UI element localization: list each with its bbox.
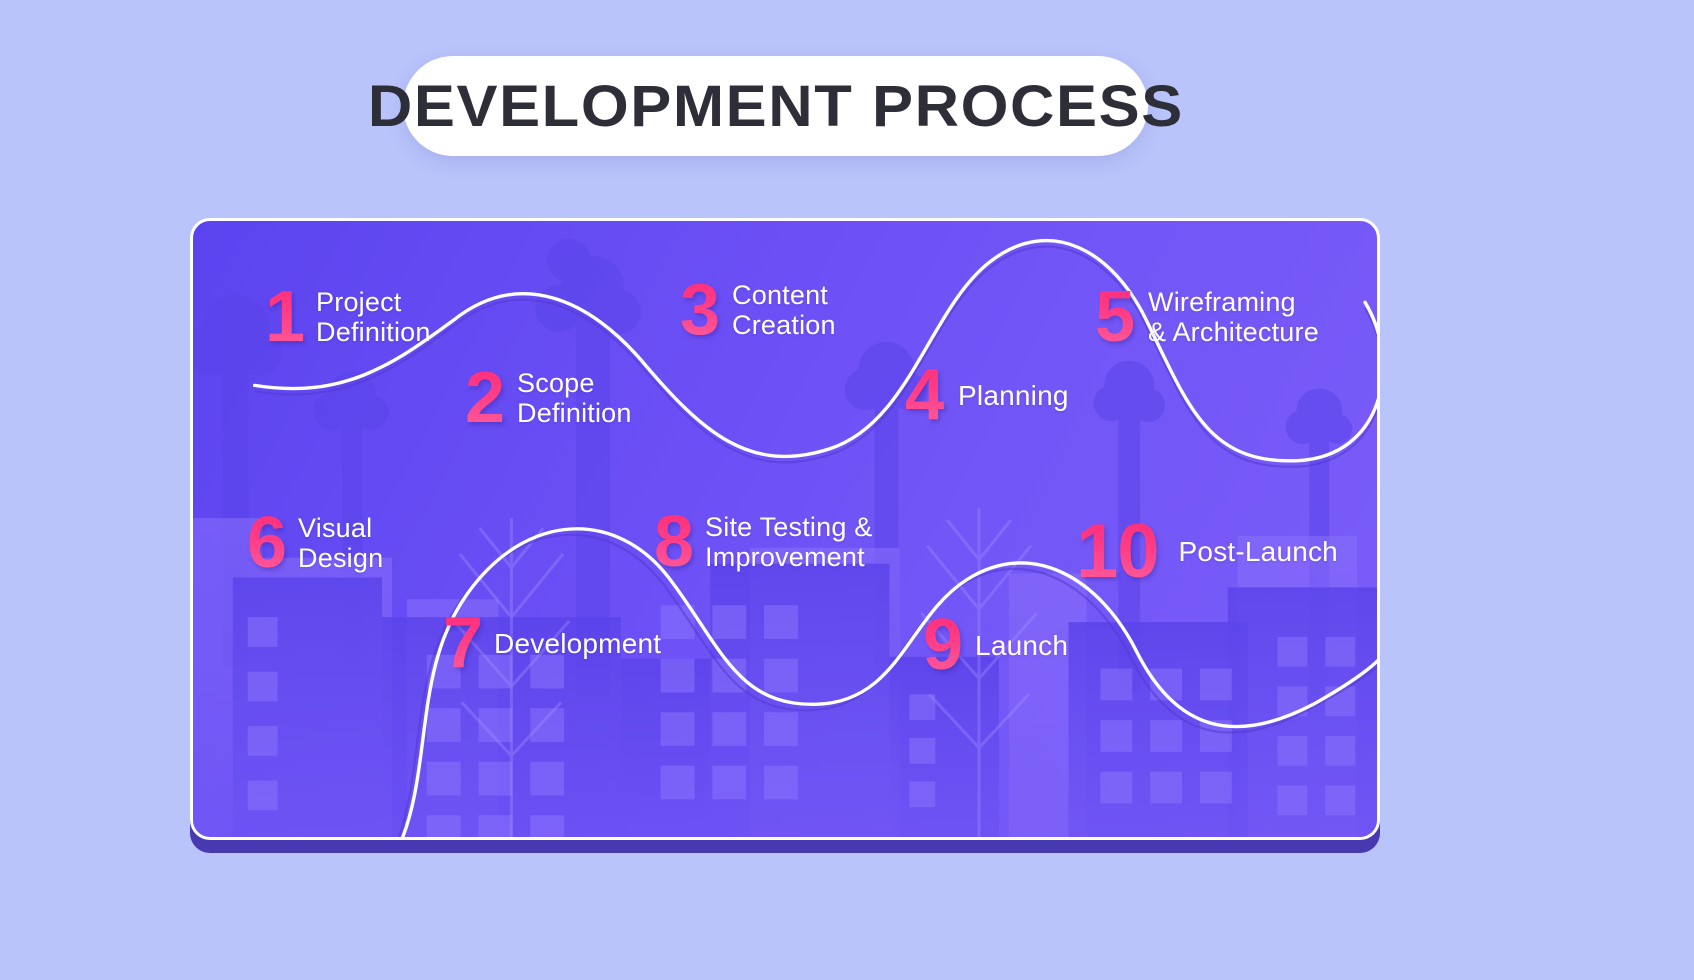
step-label-line2: Design [298, 543, 383, 573]
step-label-10: Post-Launch [1179, 536, 1338, 567]
step-number-2: 2 [465, 364, 504, 432]
infographic-card: 1 Project Definition 2 Scope Definition … [190, 218, 1380, 840]
step-item-9[interactable]: 9 Launch [923, 611, 1068, 679]
step-label-7: Development [494, 628, 661, 659]
step-item-7[interactable]: 7 Development [443, 609, 661, 677]
step-item-6[interactable]: 6 Visual Design [247, 509, 383, 577]
step-label-line1: Launch [975, 630, 1068, 661]
step-number-8: 8 [654, 508, 693, 576]
step-label-line1: Scope [517, 368, 632, 398]
step-number-10: 10 [1076, 516, 1159, 588]
step-label-line1: Post-Launch [1179, 536, 1338, 567]
step-item-1[interactable]: 1 Project Definition [265, 283, 431, 351]
step-number-1: 1 [265, 283, 304, 351]
step-label-9: Launch [975, 630, 1068, 661]
step-number-9: 9 [923, 611, 962, 679]
step-label-line2: Definition [517, 398, 632, 428]
step-number-7: 7 [443, 609, 482, 677]
step-item-2[interactable]: 2 Scope Definition [465, 364, 632, 432]
step-number-4: 4 [905, 361, 944, 429]
step-label-line1: Development [494, 628, 661, 659]
step-item-10[interactable]: 10 Post-Launch [1076, 516, 1338, 588]
step-label-line1: Content [732, 280, 836, 310]
step-label-line1: Visual [298, 513, 383, 543]
step-label-line1: Wireframing [1148, 287, 1319, 317]
step-label-line2: Improvement [705, 542, 872, 572]
step-item-4[interactable]: 4 Planning [905, 361, 1069, 429]
step-label-1: Project Definition [316, 287, 431, 347]
step-label-line2: Definition [316, 317, 431, 347]
step-label-line2: Creation [732, 310, 836, 340]
step-item-3[interactable]: 3 Content Creation [680, 276, 836, 344]
step-item-5[interactable]: 5 Wireframing & Architecture [1095, 283, 1319, 351]
step-label-5: Wireframing & Architecture [1148, 287, 1319, 347]
step-item-8[interactable]: 8 Site Testing & Improvement [654, 508, 872, 576]
step-label-6: Visual Design [298, 513, 383, 573]
step-label-4: Planning [958, 380, 1069, 411]
step-label-line1: Site Testing & [705, 512, 872, 542]
step-label-3: Content Creation [732, 280, 836, 340]
step-label-line2: & Architecture [1148, 317, 1319, 347]
step-number-3: 3 [680, 276, 719, 344]
step-label-2: Scope Definition [517, 368, 632, 428]
step-number-5: 5 [1095, 283, 1134, 351]
step-label-8: Site Testing & Improvement [705, 512, 872, 572]
step-label-line1: Project [316, 287, 431, 317]
title-pill: DEVELOPMENT PROCESS [403, 56, 1148, 156]
step-number-6: 6 [247, 509, 286, 577]
page-title: DEVELOPMENT PROCESS [368, 73, 1184, 140]
step-label-line1: Planning [958, 380, 1069, 411]
